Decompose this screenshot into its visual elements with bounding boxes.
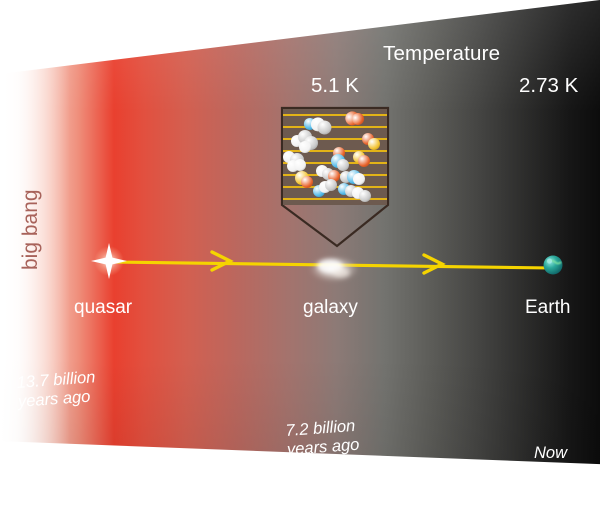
temperature-value-earth: 2.73 K [519,74,578,98]
light-ray [283,198,387,200]
galaxy-label: galaxy [303,297,358,319]
atom [301,176,313,188]
atom [299,141,311,153]
time-label-now: Now [534,444,567,463]
big-bang-label: big bang [19,166,43,270]
atom [368,138,380,150]
time-label-left: 13.7 billion years ago [16,368,97,412]
cosmic-timeline-diagram: Temperature 5.1 K 2.73 K big bang [0,0,600,510]
atom [353,173,365,185]
atom [358,155,370,167]
time-label-mid-line2: years ago [286,436,360,460]
atom [325,179,337,191]
temperature-value-galaxy: 5.1 K [311,74,359,98]
earth-label: Earth [525,297,570,319]
temperature-title: Temperature [383,42,500,66]
atom [294,159,306,171]
light-ray [283,114,387,116]
atom [359,190,371,202]
light-ray [283,126,387,128]
molecular-cloud-inset [283,109,387,205]
quasar-label: quasar [74,297,132,319]
atom [337,159,349,171]
time-label-mid: 7.2 billion years ago [285,417,360,460]
